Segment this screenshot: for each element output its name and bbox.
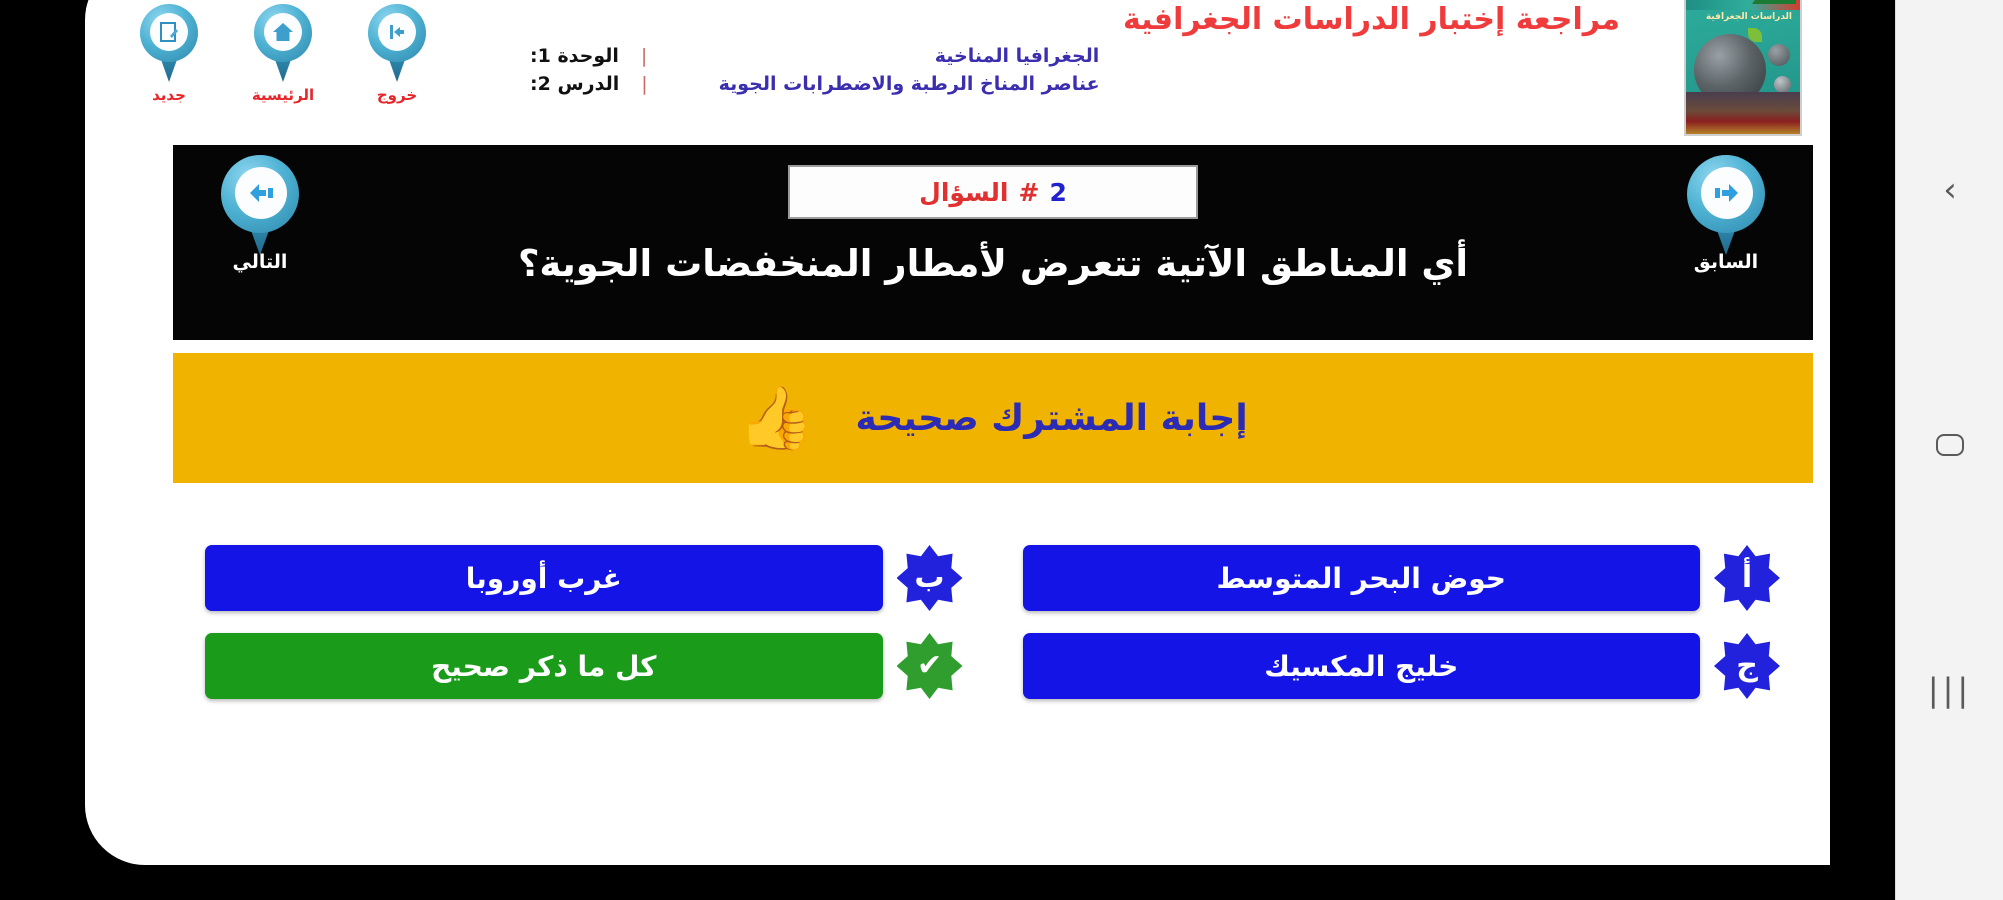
android-navigation-bar: › ||| <box>1895 0 2003 900</box>
answer-pill-a[interactable]: حوض البحر المتوسط <box>1023 545 1701 611</box>
home-icon <box>264 13 302 51</box>
toolbar-label-home: الرئيسية <box>244 86 322 104</box>
cover-bubble <box>1774 76 1791 93</box>
unit-label: الوحدة 1: <box>530 45 619 67</box>
answer-pill-c[interactable]: خليج المكسيك <box>1023 633 1701 699</box>
feedback-banner: إجابة المشترك صحيحة 👍 <box>173 353 1813 483</box>
answer-option-d-correct[interactable]: ✔ كل ما ذكر صحيح <box>205 633 963 699</box>
textbook-cover-thumbnail: الدراسات الجغرافية <box>1684 0 1802 136</box>
palestine-flag-icon <box>1752 0 1796 4</box>
answer-pill-correct[interactable]: كل ما ذكر صحيح <box>205 633 883 699</box>
answer-letter-a: أ <box>1742 563 1752 593</box>
pin-shape <box>140 4 198 82</box>
answer-option-b[interactable]: ب غرب أوروبا <box>205 545 963 611</box>
question-badge-label: السؤال <box>919 178 1008 207</box>
answer-label-correct: كل ما ذكر صحيح <box>431 650 656 683</box>
home-square-icon[interactable] <box>1896 425 2003 465</box>
toolbar-button-home[interactable]: الرئيسية <box>244 4 322 104</box>
thumbs-up-smiley-icon: 👍 <box>738 387 815 449</box>
lesson-row: عناصر المناخ الرطبة والاضطرابات الجوية |… <box>530 73 1630 95</box>
toolbar-label-new: جديد <box>130 86 208 104</box>
answer-badge-c: ج <box>1714 633 1780 699</box>
pin-shape <box>368 4 426 82</box>
previous-question-button[interactable]: السابق <box>1671 155 1781 273</box>
answer-option-c[interactable]: ج خليج المكسيك <box>1023 633 1781 699</box>
question-panel: التالي 2 # السؤال أي المناطق الآتية تتعر… <box>173 145 1813 340</box>
unit-row: الجغرافيا المناخية | الوحدة 1: <box>530 45 1630 67</box>
checkmark-icon: ✔ <box>917 651 942 681</box>
page-title: مراجعة إختبار الدراسات الجغرافية <box>530 0 1630 39</box>
new-document-icon <box>150 13 188 51</box>
toolbar-button-new[interactable]: جديد <box>130 4 208 104</box>
arrow-left-icon <box>235 167 287 219</box>
exam-title-block: مراجعة إختبار الدراسات الجغرافية الجغراف… <box>530 0 1630 95</box>
app-header: جديد الرئيسية <box>85 0 1830 140</box>
answer-letter-c: ج <box>1736 651 1758 681</box>
cover-bottom-band <box>1686 92 1800 134</box>
cover-bubble <box>1768 44 1790 66</box>
toolbar-button-exit[interactable]: خروج <box>358 4 436 104</box>
lesson-value: عناصر المناخ الرطبة والاضطرابات الجوية <box>670 73 1100 95</box>
answer-badge-correct: ✔ <box>897 633 963 699</box>
meta-separator: | <box>619 73 669 95</box>
answer-letter-b: ب <box>914 563 944 593</box>
question-text: أي المناطق الآتية تتعرض لأمطار المنخفضات… <box>173 240 1813 288</box>
answer-label-c: خليج المكسيك <box>1264 650 1458 683</box>
meta-separator: | <box>619 45 669 67</box>
question-number-badge: 2 # السؤال <box>788 165 1198 219</box>
quiz-app-card: جديد الرئيسية <box>85 0 1830 865</box>
lesson-label: الدرس 2: <box>530 73 619 95</box>
screen-root: جديد الرئيسية <box>0 0 2003 900</box>
cover-title: الدراسات الجغرافية <box>1706 12 1792 22</box>
answer-options-grid: أ حوض البحر المتوسط ب غرب أوروبا <box>205 545 1780 699</box>
exit-icon <box>378 13 416 51</box>
unit-value: الجغرافيا المناخية <box>669 45 1099 67</box>
answer-label-b: غرب أوروبا <box>466 562 622 595</box>
question-number: 2 <box>1049 178 1066 207</box>
answer-label-a: حوض البحر المتوسط <box>1217 562 1506 595</box>
pin-shape <box>254 4 312 82</box>
chevron-right-back-icon[interactable]: › <box>1896 170 2003 210</box>
answer-option-a[interactable]: أ حوض البحر المتوسط <box>1023 545 1781 611</box>
hash-symbol: # <box>1019 178 1040 207</box>
recent-apps-icon[interactable]: ||| <box>1896 670 2003 710</box>
toolbar: جديد الرئيسية <box>130 4 436 104</box>
answer-badge-b: ب <box>897 545 963 611</box>
answer-pill-b[interactable]: غرب أوروبا <box>205 545 883 611</box>
answer-badge-a: أ <box>1714 545 1780 611</box>
pin-shape <box>1687 155 1765 255</box>
feedback-text: إجابة المشترك صحيحة <box>856 398 1248 439</box>
home-square-shape <box>1936 434 1964 456</box>
toolbar-label-exit: خروج <box>358 86 436 104</box>
arrow-right-icon <box>1701 167 1753 219</box>
